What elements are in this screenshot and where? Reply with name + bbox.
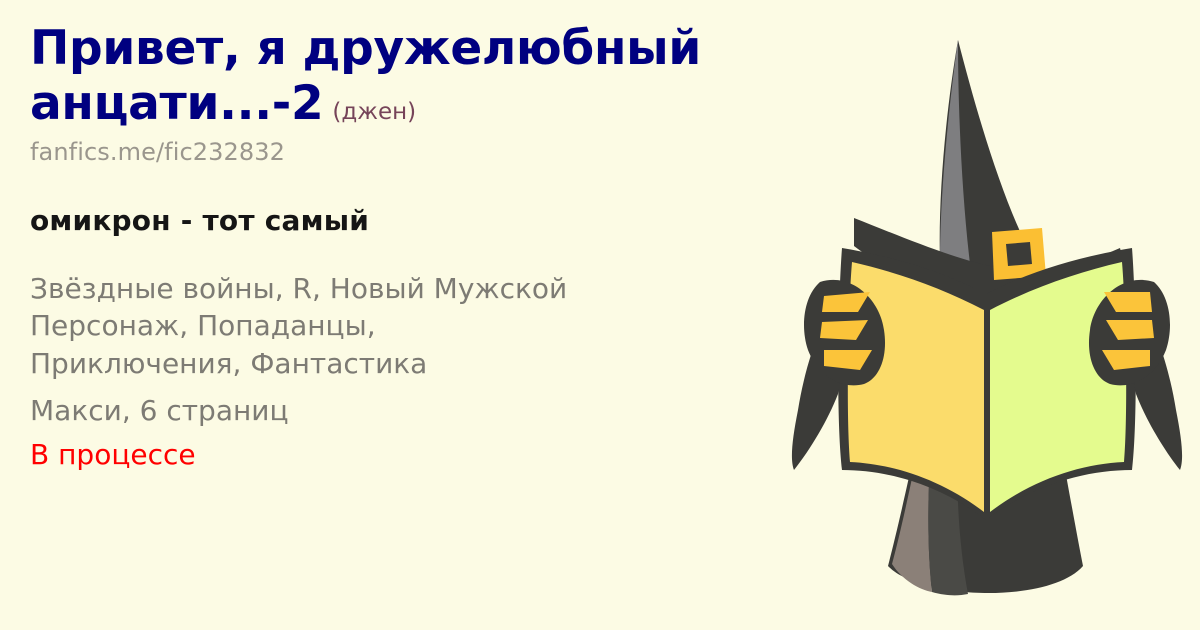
book-spine (984, 306, 990, 516)
tags-line-2: Персонаж, Попаданцы, (30, 307, 820, 344)
status-badge: В процессе (30, 436, 820, 473)
preview-card: Привет, я дружелюбный анцати...-2(джен) … (0, 0, 1200, 630)
chapter-title: омикрон - тот самый (30, 204, 820, 237)
text-column: Привет, я дружелюбный анцати...-2(джен) … (30, 22, 820, 473)
title-block: Привет, я дружелюбный анцати...-2(джен) (30, 22, 820, 131)
source-url: fanfics.me/fic232832 (30, 138, 820, 166)
tags-line-1: Звёздные войны, R, Новый Мужской (30, 270, 820, 307)
hat-buckle-inner (1006, 242, 1032, 266)
tags-list: Звёздные войны, R, Новый Мужской Персона… (30, 270, 820, 382)
wizard-reading-book-illustration (780, 0, 1200, 630)
tags-line-3: Приключения, Фантастика (30, 345, 820, 382)
page-title: Привет, я дружелюбный анцати...-2(джен) (30, 22, 820, 131)
size-and-pages: Макси, 6 страниц (30, 392, 820, 429)
pairing-label: (джен) (323, 99, 416, 125)
